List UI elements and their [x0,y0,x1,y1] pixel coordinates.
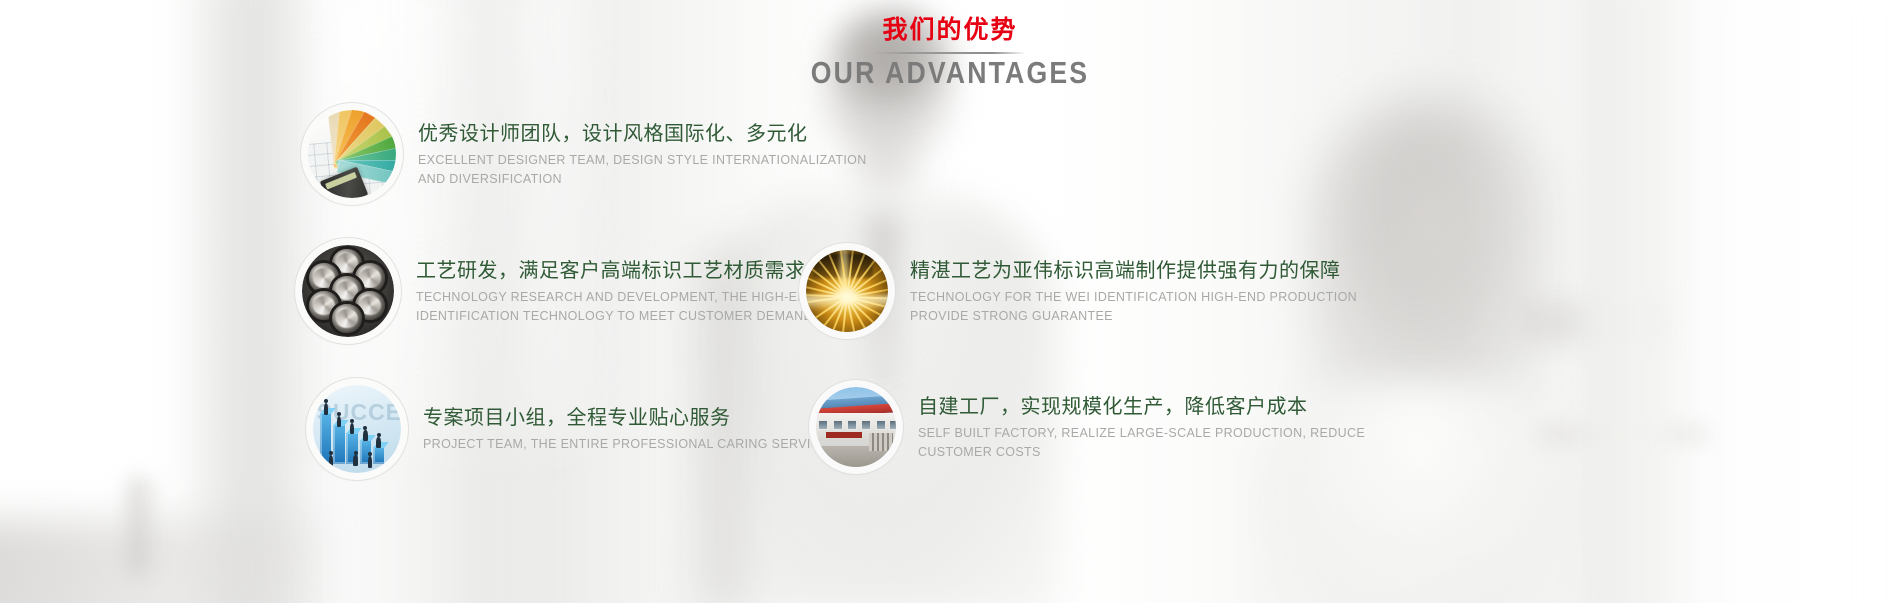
designer-team-text: 优秀设计师团队，设计风格国际化、多元化 EXCELLENT DESIGNER T… [396,120,867,187]
self-built-factory-thumbnail [816,387,896,467]
advantage-item-project-team[interactable]: SUCCESS 专案项目小组，全程专业贴心服务 PROJECT TEAM, TH… [313,385,837,473]
metal-tubes-icon [302,245,394,337]
factory-building-icon [816,387,896,467]
project-team-text: 专案项目小组，全程专业贴心服务 PROJECT TEAM, THE ENTIRE… [401,404,837,453]
section-title-cn: 我们的优势 [0,16,1900,45]
craftsmanship-title-cn: 精湛工艺为亚伟标识高端制作提供强有力的保障 [910,257,1357,284]
advantage-item-designer-team[interactable]: 优秀设计师团队，设计风格国际化、多元化 EXCELLENT DESIGNER T… [308,110,867,198]
success-bar-chart-icon: SUCCESS [313,385,401,473]
designer-team-thumbnail [308,110,396,198]
craftsmanship-title-en: TECHNOLOGY FOR THE WEI IDENTIFICATION HI… [910,288,1357,324]
section-title-en: OUR ADVANTAGES [133,56,1767,90]
craftsmanship-thumbnail [806,250,888,332]
advantage-item-technology-rnd[interactable]: 工艺研发，满足客户高端标识工艺材质需求 TECHNOLOGY RESEARCH … [302,245,884,337]
technology-rnd-thumbnail [302,245,394,337]
designer-team-title-en: EXCELLENT DESIGNER TEAM, DESIGN STYLE IN… [418,151,867,187]
project-team-title-cn: 专案项目小组，全程专业贴心服务 [423,404,837,431]
advantages-section: 我们的优势 OUR ADVANTAGES [0,0,1900,603]
project-team-thumbnail: SUCCESS [313,385,401,473]
advantage-item-craftsmanship-guarantee[interactable]: 精湛工艺为亚伟标识高端制作提供强有力的保障 TECHNOLOGY FOR THE… [806,250,1357,332]
section-heading: 我们的优势 OUR ADVANTAGES [0,16,1900,90]
self-built-factory-title-cn: 自建工厂，实现规模化生产，降低客户成本 [918,393,1365,420]
project-team-title-en: PROJECT TEAM, THE ENTIRE PROFESSIONAL CA… [423,435,837,453]
craftsmanship-text: 精湛工艺为亚伟标识高端制作提供强有力的保障 TECHNOLOGY FOR THE… [888,257,1357,324]
laser-cutting-sparks-icon [806,250,888,332]
self-built-factory-title-en: SELF BUILT FACTORY, REALIZE LARGE-SCALE … [918,424,1365,460]
designer-team-title-cn: 优秀设计师团队，设计风格国际化、多元化 [418,120,867,147]
advantage-item-self-built-factory[interactable]: 自建工厂，实现规模化生产，降低客户成本 SELF BUILT FACTORY, … [816,387,1365,467]
title-divider-rule [874,52,1026,54]
self-built-factory-text: 自建工厂，实现规模化生产，降低客户成本 SELF BUILT FACTORY, … [896,393,1365,460]
color-swatch-blueprint-icon [308,110,396,198]
